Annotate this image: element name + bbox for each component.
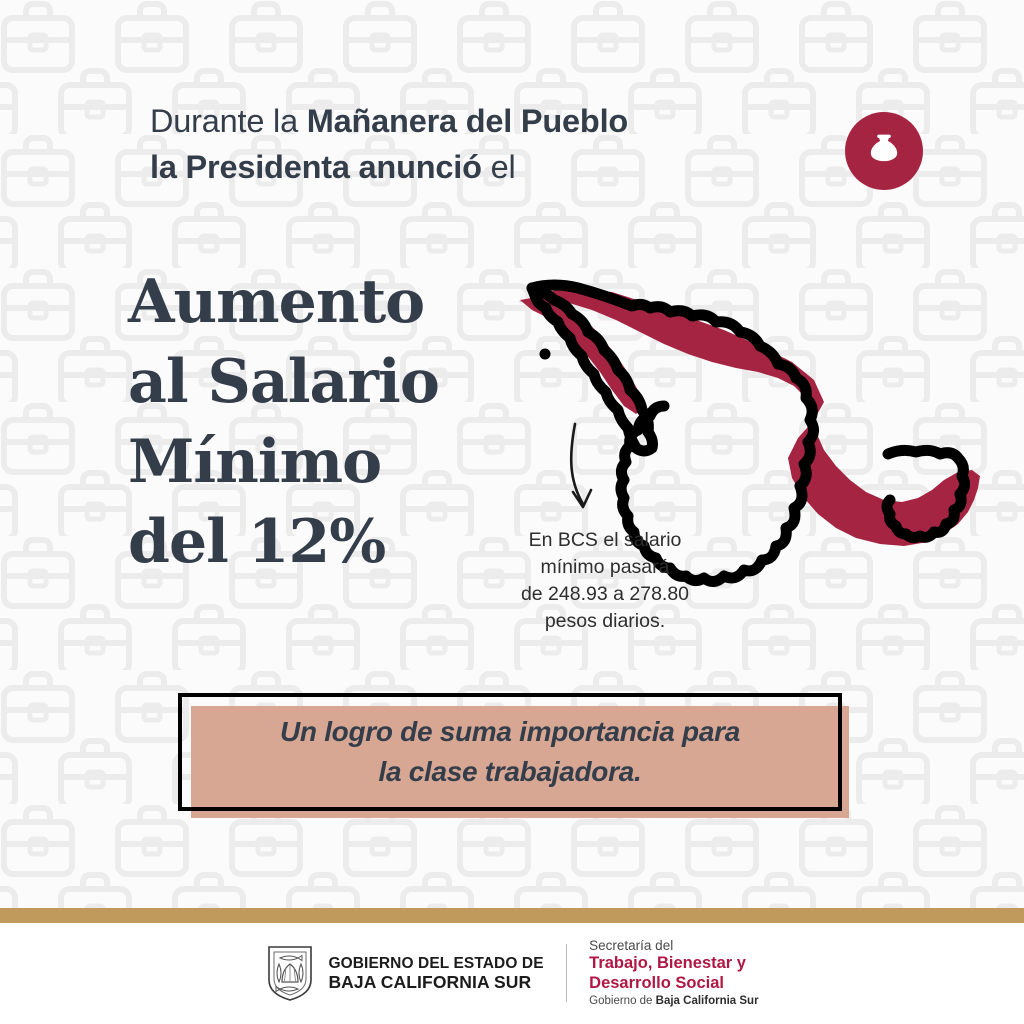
infographic-poster: Durante la Mañanera del Pueblo la Presid… bbox=[0, 0, 1024, 1024]
header-text-block: Durante la Mañanera del Pueblo la Presid… bbox=[150, 98, 810, 190]
header-line-1-regular: Durante la bbox=[150, 103, 307, 139]
footer-divider bbox=[566, 944, 568, 1002]
quote-box-border: Un logro de suma importancia para la cla… bbox=[178, 693, 842, 811]
headline-line-2: al Salario bbox=[128, 342, 488, 422]
money-bag-icon bbox=[861, 128, 907, 174]
secretariat-line-4-bold: Baja California Sur bbox=[656, 995, 759, 1007]
footer: GOBIERNO DEL ESTADO DE BAJA CALIFORNIA S… bbox=[0, 923, 1024, 1024]
arrow-head-icon bbox=[573, 490, 591, 507]
quote-line-1: Un logro de suma importancia para bbox=[280, 716, 740, 747]
baja-california-sur-coat-of-arms bbox=[265, 944, 315, 1002]
annotation-line-2: mínimo pasará bbox=[480, 554, 730, 581]
government-logo-block: GOBIERNO DEL ESTADO DE BAJA CALIFORNIA S… bbox=[265, 944, 543, 1002]
secretariat-line-4-prefix: Gobierno de bbox=[589, 995, 656, 1007]
header-line-1: Durante la Mañanera del Pueblo bbox=[150, 98, 810, 144]
header-line-2: la Presidenta anunció el bbox=[150, 144, 810, 190]
header-line-1-bold: Mañanera del Pueblo bbox=[307, 103, 628, 139]
header-line-2-regular: el bbox=[482, 149, 516, 185]
secretariat-line-1: Secretaría del bbox=[589, 938, 758, 954]
government-name-line-1: GOBIERNO DEL ESTADO DE bbox=[328, 954, 543, 973]
secretariat-line-2: Trabajo, Bienestar y bbox=[589, 954, 758, 973]
headline-line-4: del 12% bbox=[128, 502, 488, 582]
secretariat-line-4: Gobierno de Baja California Sur bbox=[589, 995, 758, 1009]
headline-line-1: Aumento bbox=[128, 262, 488, 342]
quote-line-2: la clase trabajadora. bbox=[379, 756, 642, 787]
government-name-line-2: BAJA CALIFORNIA SUR bbox=[328, 973, 543, 992]
quote-text: Un logro de suma importancia para la cla… bbox=[258, 712, 762, 792]
secretariat-logo-block: Secretaría del Trabajo, Bienestar y Desa… bbox=[589, 938, 758, 1008]
government-name: GOBIERNO DEL ESTADO DE BAJA CALIFORNIA S… bbox=[328, 954, 543, 992]
annotation-line-4: pesos diarios. bbox=[480, 608, 730, 635]
money-bag-badge bbox=[845, 112, 923, 190]
headline-line-3: Mínimo bbox=[128, 422, 488, 502]
map-island-dot bbox=[540, 349, 551, 360]
header-line-2-bold: la Presidenta anunció bbox=[150, 149, 482, 185]
annotation-line-1: En BCS el salario bbox=[480, 527, 730, 554]
main-headline: Aumento al Salario Mínimo del 12% bbox=[128, 262, 488, 582]
annotation-text-block: En BCS el salario mínimo pasará de 248.9… bbox=[480, 527, 730, 635]
annotation-arrow bbox=[545, 412, 640, 527]
gold-divider-bar bbox=[0, 908, 1024, 923]
secretariat-line-3: Desarrollo Social bbox=[589, 974, 758, 993]
annotation-line-3: de 248.93 a 278.80 bbox=[480, 581, 730, 608]
